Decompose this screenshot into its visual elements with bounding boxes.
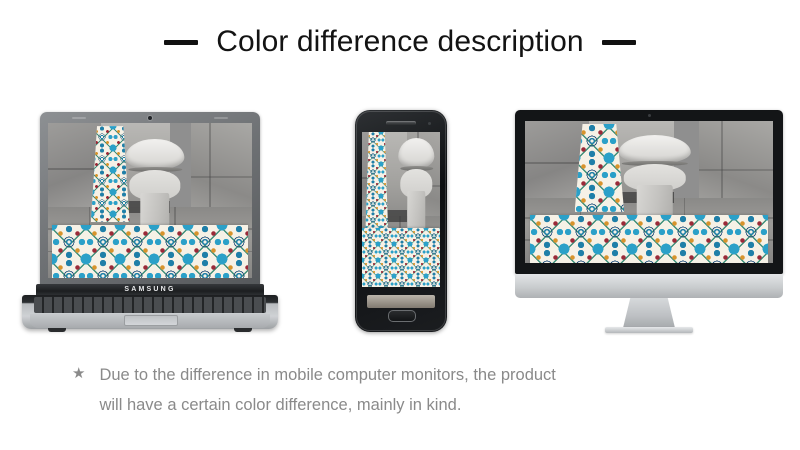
phone-bottom-image-strip <box>367 295 435 308</box>
disclaimer-note: ★ Due to the difference in mobile comput… <box>0 360 800 420</box>
disclaimer-line-1: Due to the difference in mobile computer… <box>99 360 555 390</box>
laptop-brand-label: SAMSUNG <box>124 286 175 293</box>
title-dash-left <box>164 40 198 45</box>
title-dash-right <box>602 40 636 45</box>
phone-earpiece-icon <box>386 121 416 125</box>
laptop-mic-slot-left <box>72 117 86 119</box>
star-icon: ★ <box>72 360 85 388</box>
tile-floor-mat <box>362 228 440 287</box>
phone-home-button[interactable] <box>388 310 416 322</box>
laptop-lid <box>40 112 260 288</box>
laptop-top-bezel <box>40 112 260 123</box>
monitor-webcam-icon <box>648 114 651 117</box>
laptop-foot-left <box>48 328 66 332</box>
bathroom-scene-phone <box>362 132 440 287</box>
bathroom-scene-monitor <box>525 121 773 263</box>
laptop-webcam-icon <box>148 116 152 120</box>
monitor-stand-base <box>605 327 693 333</box>
laptop-screen <box>48 123 252 278</box>
laptop-trackpad[interactable] <box>124 315 178 326</box>
bathroom-scene-laptop <box>48 123 252 278</box>
monitor-screen <box>525 121 773 263</box>
page-title: Color difference description <box>216 25 583 59</box>
disclaimer-line-2: will have a certain color difference, ma… <box>99 390 555 420</box>
laptop-keyboard[interactable] <box>34 297 266 313</box>
laptop-device: SAMSUNG <box>22 112 278 334</box>
phone-screen <box>362 132 440 287</box>
tile-runner <box>575 124 625 212</box>
phone-device <box>355 110 447 332</box>
monitor-stand-neck <box>623 298 675 328</box>
tile-runner <box>365 132 388 241</box>
device-showcase: SAMSUNG <box>0 100 800 350</box>
page-title-row: Color difference description <box>0 18 800 66</box>
monitor-chin <box>515 274 783 298</box>
laptop-mic-slot-right <box>214 117 228 119</box>
monitor-frame <box>515 110 783 274</box>
phone-front-camera-icon <box>428 122 431 125</box>
laptop-foot-right <box>234 328 252 332</box>
tile-floor-mat <box>530 215 768 263</box>
tile-floor-mat <box>52 225 248 278</box>
monitor-device <box>515 110 783 338</box>
